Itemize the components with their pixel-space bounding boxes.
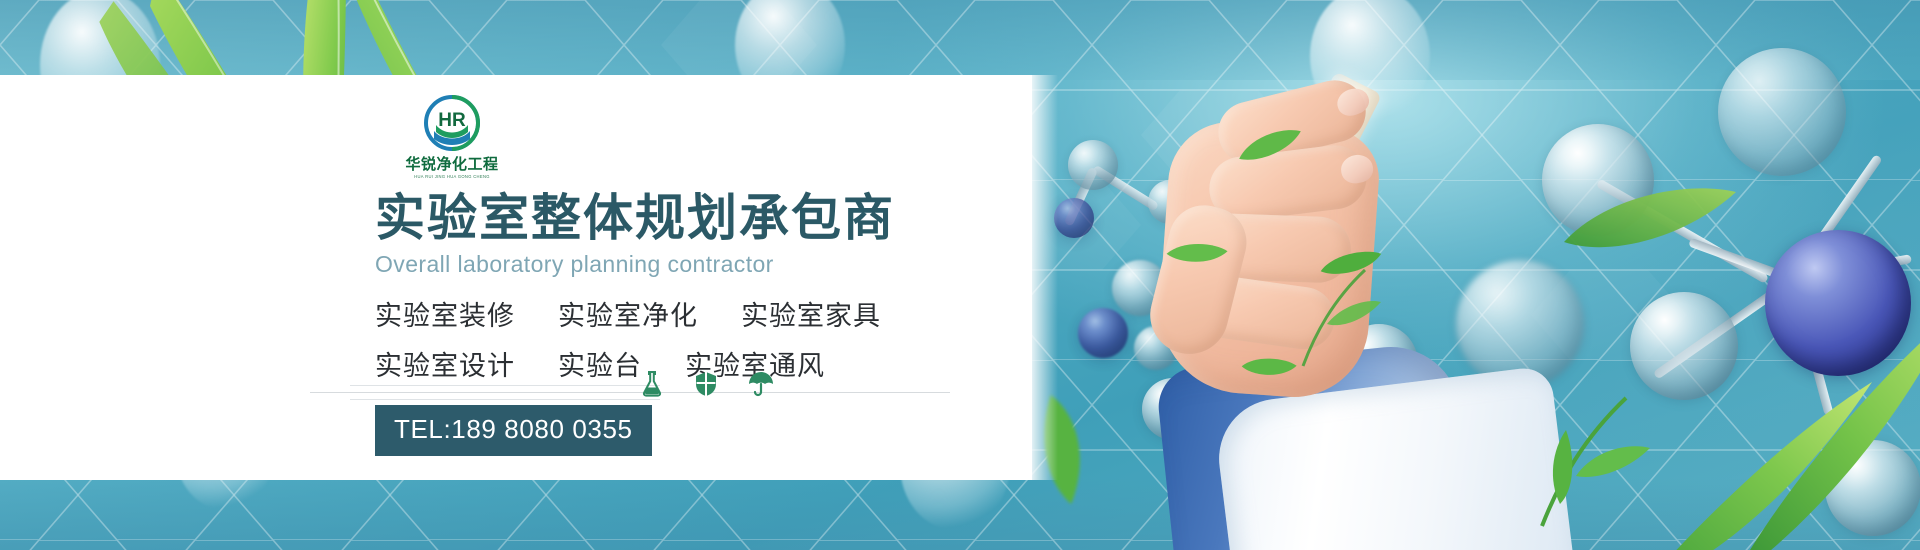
shield-icon[interactable] [694, 371, 718, 397]
svg-text:HR: HR [438, 110, 466, 131]
banner-title: 实验室整体规划承包商 [375, 191, 1015, 245]
bamboo-leaf-large [1560, 180, 1740, 270]
divider-line [350, 385, 660, 386]
service-item: 实验室净化 [558, 301, 698, 331]
brand-name-pinyin: HUA RUI JING HUA GONG CHENG [392, 174, 512, 179]
banner-subtitle: Overall laboratory planning contractor [375, 251, 1015, 278]
divider-lines [310, 383, 950, 405]
service-item: 实验室装修 [375, 301, 515, 331]
banner-content: HR 华锐净化工程 HUA RUI JING HUA GONG CHENG 实验… [375, 95, 1015, 456]
bamboo-leaf-large [1650, 360, 1880, 550]
brand-name-cn: 华锐净化工程 [387, 153, 517, 174]
brand-logo[interactable]: HR 华锐净化工程 HUA RUI JING HUA GONG CHENG [387, 95, 517, 187]
flask-icon[interactable] [640, 371, 664, 397]
bamboo-sprig [1295, 250, 1385, 370]
service-item: 实验室设计 [375, 351, 515, 381]
promo-banner: HR 华锐净化工程 HUA RUI JING HUA GONG CHENG 实验… [0, 0, 1920, 550]
umbrella-icon[interactable] [748, 371, 774, 397]
bamboo-sprig [1530, 380, 1660, 530]
service-item: 实验台 [558, 351, 642, 381]
service-line-1: 实验室装修 实验室净化 实验室家具 [375, 294, 1015, 333]
divider-line [310, 392, 950, 393]
service-item: 实验室家具 [741, 301, 881, 331]
telephone-button[interactable]: TEL:189 8080 0355 [375, 405, 652, 456]
hr-circle-logo-icon: HR [424, 95, 480, 151]
divider-line [350, 399, 660, 400]
feature-icon-row [640, 371, 774, 397]
